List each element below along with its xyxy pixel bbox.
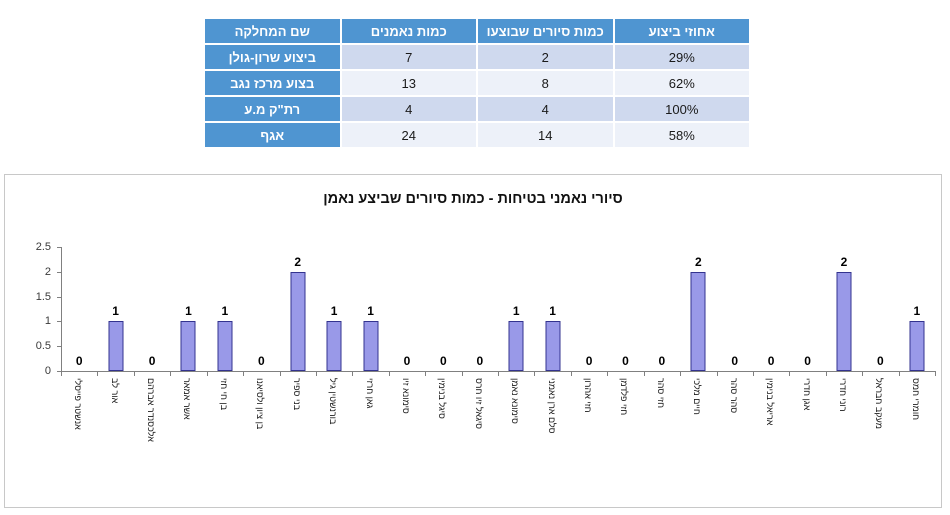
y-axis-tick-label: 2 bbox=[17, 266, 51, 278]
x-axis-tick-mark bbox=[935, 371, 936, 376]
bar[interactable] bbox=[545, 321, 560, 371]
bar-value-label: 1 bbox=[331, 304, 338, 318]
summary-table: אחוזי ביצוע כמות סיורים שבוצעו כמות נאמנ… bbox=[203, 17, 751, 149]
bar-value-label: 0 bbox=[622, 354, 629, 368]
bar-value-label: 1 bbox=[513, 304, 520, 318]
bar-value-label: 0 bbox=[149, 354, 156, 368]
x-axis-tick-mark bbox=[207, 371, 208, 376]
summary-table-body: 29% 2 7 ביצוע שרון-גולן 62% 8 13 בצוע מר… bbox=[205, 45, 749, 147]
x-axis-category-label: בן ציון ולסיאנו bbox=[255, 378, 265, 429]
bar-value-label: 0 bbox=[258, 354, 265, 368]
bar-value-label: 1 bbox=[549, 304, 556, 318]
y-axis-tick-label: 0.5 bbox=[17, 340, 51, 352]
x-axis-tick-mark bbox=[607, 371, 608, 376]
x-axis-tick-mark bbox=[862, 371, 863, 376]
x-axis-tick-mark bbox=[899, 371, 900, 376]
bar-slot[interactable]: 0 bbox=[243, 247, 279, 371]
x-axis-category-label: סימונא זיו bbox=[401, 378, 411, 414]
x-axis-tick-mark bbox=[498, 371, 499, 376]
bar[interactable] bbox=[217, 321, 232, 371]
bar-slot[interactable]: 0 bbox=[607, 247, 643, 371]
bar-slot[interactable]: 0 bbox=[462, 247, 498, 371]
bar-value-label: 1 bbox=[112, 304, 119, 318]
cell-tours: 4 bbox=[478, 97, 613, 121]
bar[interactable] bbox=[509, 321, 524, 371]
bar-slot[interactable]: 0 bbox=[571, 247, 607, 371]
bar[interactable] bbox=[181, 321, 196, 371]
bar-value-label: 2 bbox=[841, 255, 848, 269]
bar-slot[interactable]: 1 bbox=[97, 247, 133, 371]
x-axis-category-label: חיים מלכי bbox=[692, 378, 702, 415]
cell-percent: 29% bbox=[615, 45, 750, 69]
cell-trustees: 7 bbox=[342, 45, 477, 69]
x-axis-tick-mark bbox=[462, 371, 463, 376]
x-axis-tick-mark bbox=[243, 371, 244, 376]
cell-percent: 100% bbox=[615, 97, 750, 121]
bar-slot[interactable]: 2 bbox=[280, 247, 316, 371]
x-axis-tick-mark bbox=[826, 371, 827, 376]
x-axis-tick-mark bbox=[753, 371, 754, 376]
x-axis-category-label: מעקב חבראל bbox=[874, 378, 884, 429]
x-axis-tick-mark bbox=[134, 371, 135, 376]
bar-value-label: 2 bbox=[294, 255, 301, 269]
x-axis-category-label: סלם ארן נאמני bbox=[547, 378, 557, 434]
x-axis-tick-mark bbox=[280, 371, 281, 376]
x-axis-category-label: חזי סהר bbox=[656, 378, 666, 408]
bar-value-label: 1 bbox=[185, 304, 192, 318]
bar-value-label: 0 bbox=[476, 354, 483, 368]
cell-department: אגף bbox=[205, 123, 340, 147]
x-axis-category-label: אגן חדרי bbox=[802, 378, 812, 410]
cell-tours: 14 bbox=[478, 123, 613, 147]
x-axis-tick-mark bbox=[97, 371, 98, 376]
bar-slot[interactable]: 0 bbox=[61, 247, 97, 371]
bar-slot[interactable]: 0 bbox=[425, 247, 461, 371]
bar[interactable] bbox=[909, 321, 924, 371]
bar-slot[interactable]: 0 bbox=[717, 247, 753, 371]
cell-department: רת"ק מ.ע bbox=[205, 97, 340, 121]
x-axis-category-label: רוני חדרי bbox=[838, 378, 848, 412]
bar[interactable] bbox=[691, 272, 706, 371]
bar-value-label: 1 bbox=[367, 304, 374, 318]
x-axis-labels: אנשטר פייסליאור לבאלכסנדר אברהםאשר אמארב… bbox=[61, 378, 935, 488]
x-axis-category-label: חזי אהרון bbox=[583, 378, 593, 413]
cell-percent: 62% bbox=[615, 71, 750, 95]
bar-slot[interactable]: 1 bbox=[207, 247, 243, 371]
screenshot-root: אחוזי ביצוע כמות סיורים שבוצעו כמות נאמנ… bbox=[0, 0, 950, 515]
bar-slot[interactable]: 0 bbox=[753, 247, 789, 371]
bar-slot[interactable]: 2 bbox=[826, 247, 862, 371]
x-axis-category-label: סהר סהר bbox=[729, 378, 739, 413]
bar-slot[interactable]: 1 bbox=[316, 247, 352, 371]
bar-slot[interactable]: 1 bbox=[899, 247, 935, 371]
bar-slot[interactable]: 0 bbox=[644, 247, 680, 371]
bar[interactable] bbox=[327, 321, 342, 371]
x-axis-tick-mark bbox=[61, 371, 62, 376]
table-row: 58% 14 24 אגף bbox=[205, 123, 749, 147]
x-axis-category-label: סימונא נאמן bbox=[510, 378, 520, 424]
x-axis-category-label: אלכסנדר אברהם bbox=[146, 378, 156, 442]
bar-slot[interactable]: 1 bbox=[498, 247, 534, 371]
x-axis-category-label: חומרי חמס bbox=[911, 378, 921, 420]
bar-value-label: 0 bbox=[586, 354, 593, 368]
bar-value-label: 0 bbox=[731, 354, 738, 368]
x-axis-tick-mark bbox=[571, 371, 572, 376]
x-axis-category-label: אור לב bbox=[110, 378, 120, 403]
cell-trustees: 13 bbox=[342, 71, 477, 95]
bar-value-label: 0 bbox=[659, 354, 666, 368]
column-header-percent: אחוזי ביצוע bbox=[615, 19, 750, 43]
x-axis-tick-mark bbox=[789, 371, 790, 376]
bar-slot[interactable]: 0 bbox=[862, 247, 898, 371]
x-axis-tick-mark bbox=[316, 371, 317, 376]
table-row: 62% 8 13 בצוע מרכז נגב bbox=[205, 71, 749, 95]
cell-trustees: 4 bbox=[342, 97, 477, 121]
x-axis-category-label: אשר אמאר bbox=[182, 378, 192, 420]
x-axis-tick-mark bbox=[680, 371, 681, 376]
bar-value-label: 0 bbox=[877, 354, 884, 368]
table-row: 29% 2 7 ביצוע שרון-גולן bbox=[205, 45, 749, 69]
bar-value-label: 0 bbox=[404, 354, 411, 368]
bar-value-label: 0 bbox=[440, 354, 447, 368]
bar-slot[interactable]: 2 bbox=[680, 247, 716, 371]
bar-slot[interactable]: 0 bbox=[789, 247, 825, 371]
x-axis-tick-mark bbox=[425, 371, 426, 376]
x-axis-category-label: חזי פלדמן bbox=[619, 378, 629, 415]
summary-table-head: אחוזי ביצוע כמות סיורים שבוצעו כמות נאמנ… bbox=[205, 19, 749, 43]
y-axis-tick-label: 1 bbox=[17, 315, 51, 327]
bar[interactable] bbox=[108, 321, 123, 371]
summary-header-row: אחוזי ביצוע כמות סיורים שבוצעו כמות נאמנ… bbox=[205, 19, 749, 43]
x-axis-category-label: אנשטר פייסלי bbox=[73, 378, 83, 430]
cell-trustees: 24 bbox=[342, 123, 477, 147]
bar[interactable] bbox=[836, 272, 851, 371]
bar-value-label: 0 bbox=[768, 354, 775, 368]
x-axis-tick-mark bbox=[389, 371, 390, 376]
bar-value-label: 0 bbox=[76, 354, 83, 368]
bar-slot[interactable]: 0 bbox=[389, 247, 425, 371]
chart-title: סיורי נאמני בטיחות - כמות סיורים שביצע נ… bbox=[5, 191, 941, 207]
bar-slot[interactable]: 1 bbox=[352, 247, 388, 371]
cell-percent: 58% bbox=[615, 123, 750, 147]
bar-slot[interactable]: 1 bbox=[170, 247, 206, 371]
x-axis-tick-mark bbox=[717, 371, 718, 376]
bar-value-label: 1 bbox=[222, 304, 229, 318]
column-header-trustees: כמות נאמנים bbox=[342, 19, 477, 43]
x-axis-category-label: בורנשטין גיל bbox=[328, 378, 338, 424]
bar-slot[interactable]: 1 bbox=[534, 247, 570, 371]
cell-tours: 2 bbox=[478, 45, 613, 69]
x-axis-tick-mark bbox=[644, 371, 645, 376]
bar-value-label: 2 bbox=[695, 255, 702, 269]
bar[interactable] bbox=[363, 321, 378, 371]
chart-panel: סיורי נאמני בטיחות - כמות סיורים שביצע נ… bbox=[4, 174, 942, 508]
bar-slot[interactable]: 0 bbox=[134, 247, 170, 371]
x-axis-category-label: בן חי חזי bbox=[219, 378, 229, 410]
x-axis-tick-mark bbox=[170, 371, 171, 376]
x-axis-category-label: בני ספיר bbox=[292, 378, 302, 410]
y-axis-tick-label: 0 bbox=[17, 365, 51, 377]
cell-department: ביצוע שרון-גולן bbox=[205, 45, 340, 69]
x-axis-category-label: סיגאל זיו חרס bbox=[474, 378, 484, 429]
x-axis-category-label: אריאל בנימין bbox=[765, 378, 775, 425]
bar[interactable] bbox=[290, 272, 305, 371]
y-axis-tick-label: 2.5 bbox=[17, 241, 51, 253]
y-axis-tick-label: 1.5 bbox=[17, 291, 51, 303]
cell-department: בצוע מרכז נגב bbox=[205, 71, 340, 95]
summary-table-container: אחוזי ביצוע כמות סיורים שבוצעו כמות נאמנ… bbox=[203, 17, 751, 149]
cell-tours: 8 bbox=[478, 71, 613, 95]
x-axis-tick-mark bbox=[352, 371, 353, 376]
table-row: 100% 4 4 רת"ק מ.ע bbox=[205, 97, 749, 121]
x-axis-category-label: גאן חרזי bbox=[365, 378, 375, 408]
x-axis-tick-mark bbox=[534, 371, 535, 376]
bars-layer: 010110211000110002000201 bbox=[61, 247, 935, 371]
bar-value-label: 0 bbox=[804, 354, 811, 368]
column-header-department: שם המחלקה bbox=[205, 19, 340, 43]
x-axis-category-label: סיגל בנימין bbox=[437, 378, 447, 419]
column-header-tours: כמות סיורים שבוצעו bbox=[478, 19, 613, 43]
bar-value-label: 1 bbox=[913, 304, 920, 318]
